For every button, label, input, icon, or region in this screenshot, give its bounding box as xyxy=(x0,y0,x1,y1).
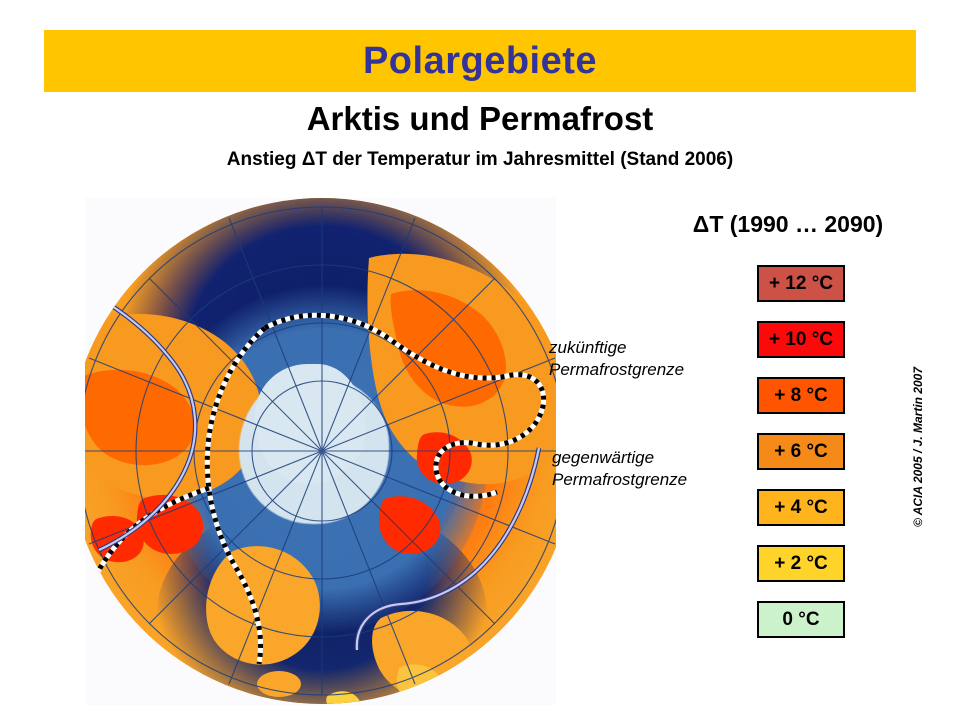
polar-ice-cap-inner xyxy=(255,364,365,484)
legend-swatch-list: + 12 °C+ 10 °C+ 8 °C+ 6 °C+ 4 °C+ 2 °C0 … xyxy=(757,265,853,638)
legend-swatch-label: + 6 °C xyxy=(774,441,828,462)
legend-swatch-4: + 4 °C xyxy=(757,489,845,526)
land-kamchatka xyxy=(379,496,440,554)
legend-title: ΔT (1990 … 2090) xyxy=(660,211,916,238)
legend-swatch-0: 0 °C xyxy=(757,601,845,638)
annotation-present-permafrost: gegenwärtige Permafrostgrenze xyxy=(552,447,687,491)
legend-swatch-label: + 10 °C xyxy=(769,329,833,350)
legend-swatch-label: 0 °C xyxy=(782,609,819,630)
legend-swatch-label: + 2 °C xyxy=(774,553,828,574)
legend-swatch-8: + 8 °C xyxy=(757,377,845,414)
map-white-artifact xyxy=(87,253,113,269)
annotation-future-line2: Permafrostgrenze xyxy=(549,359,684,381)
annotation-future-permafrost: zukünftige Permafrostgrenze xyxy=(549,337,684,381)
land-canadian-archipelago xyxy=(137,495,203,554)
legend-swatch-2: + 2 °C xyxy=(757,545,845,582)
polar-projection-disc xyxy=(85,198,556,704)
land-scandinavia xyxy=(372,611,475,704)
legend-swatch-10: + 10 °C xyxy=(757,321,845,358)
legend-swatch-label: + 12 °C xyxy=(769,273,833,294)
section-heading: Arktis und Permafrost xyxy=(0,100,960,138)
land-iceland xyxy=(257,671,301,697)
section-subheading: Anstieg ΔT der Temperatur im Jahresmitte… xyxy=(0,149,960,171)
arctic-map xyxy=(85,198,556,705)
annotation-present-line2: Permafrostgrenze xyxy=(552,469,687,491)
legend-swatch-6: + 6 °C xyxy=(757,433,845,470)
annotation-present-line1: gegenwärtige xyxy=(552,447,687,469)
land-nunavut xyxy=(91,516,144,562)
legend-swatch-label: + 4 °C xyxy=(774,497,828,518)
legend-swatch-12: + 12 °C xyxy=(757,265,845,302)
land-greenland xyxy=(206,546,320,664)
legend-swatch-label: + 8 °C xyxy=(774,385,828,406)
copyright-notice: © ACIA 2005 / J. Martin 2007 xyxy=(911,367,925,527)
annotation-future-line1: zukünftige xyxy=(549,337,684,359)
land-british-isles xyxy=(326,691,361,704)
page-title: Polargebiete xyxy=(44,30,916,92)
